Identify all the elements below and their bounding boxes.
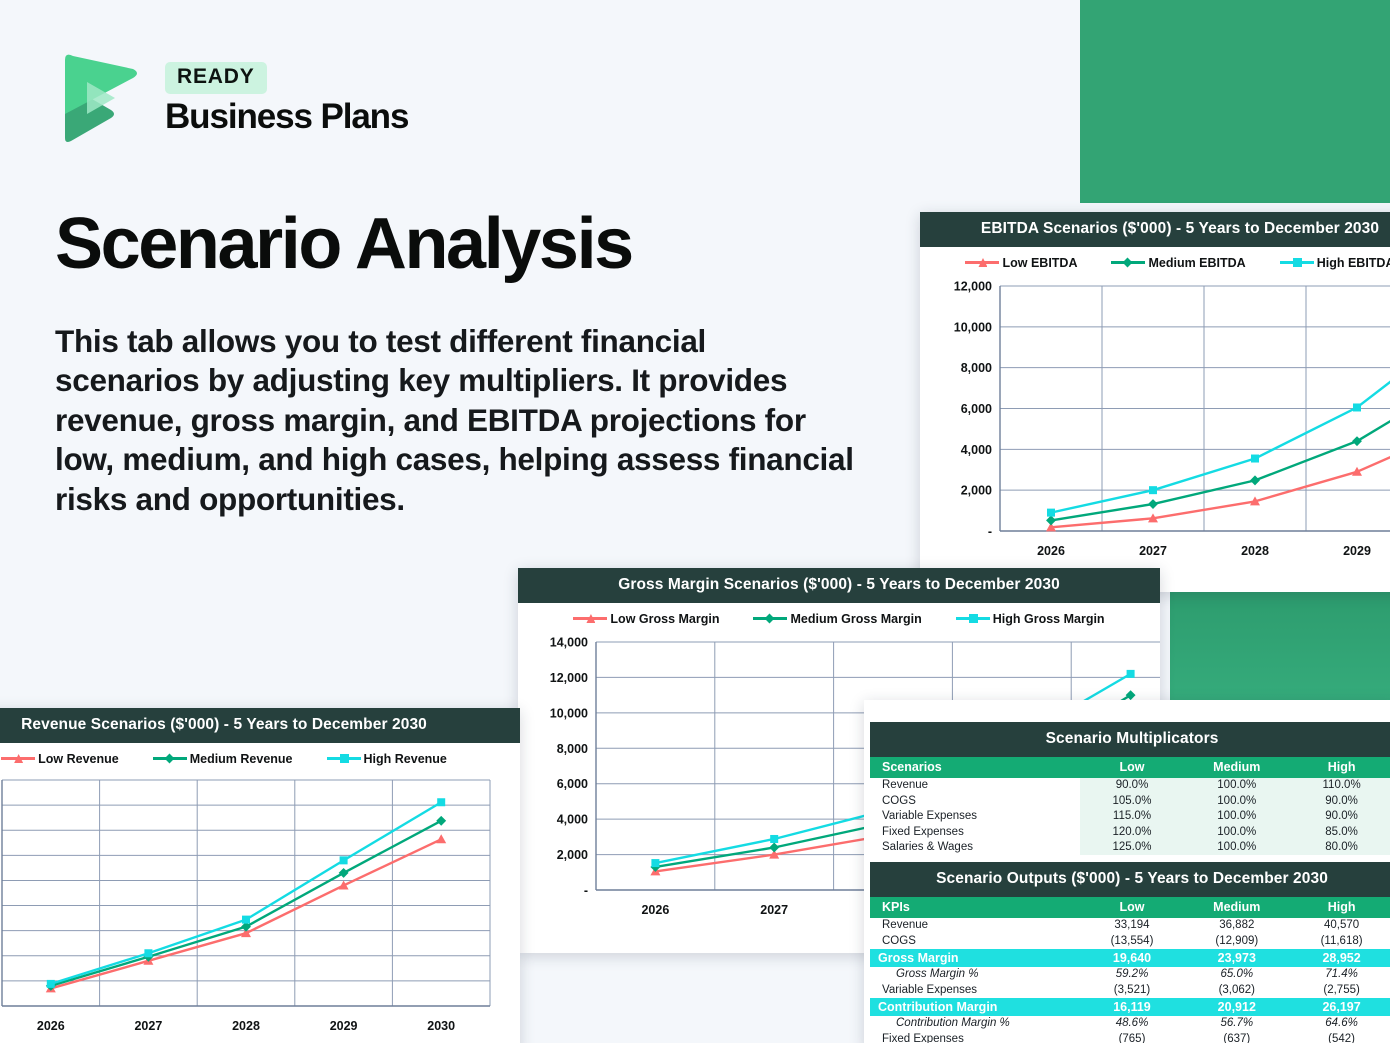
row-label: COGS <box>870 933 1080 949</box>
row-label: Contribution Margin % <box>870 1016 1080 1032</box>
table-row: Contribution Margin16,11920,91226,197 <box>870 998 1390 1016</box>
cell-low: (3,521) <box>1080 982 1185 998</box>
legend-marker-low-icon <box>573 617 607 620</box>
legend-marker-medium-icon <box>153 757 187 760</box>
table-row: Fixed Expenses120.0%100.0%85.0% <box>870 824 1390 840</box>
svg-text:12,000: 12,000 <box>550 670 588 684</box>
row-label: Fixed Expenses <box>870 1031 1080 1043</box>
col-header-scenarios: Scenarios <box>870 757 1080 778</box>
cell-high: (2,755) <box>1289 982 1390 998</box>
legend-marker-high-icon <box>956 617 990 620</box>
col-header-low: Low <box>1080 757 1185 778</box>
cell-high: 26,197 <box>1289 998 1390 1016</box>
cell-low: 115.0% <box>1080 809 1185 825</box>
svg-text:4,000: 4,000 <box>557 812 588 826</box>
cell-medium: 56.7% <box>1184 1016 1289 1032</box>
row-label: Gross Margin <box>870 949 1080 967</box>
table-row: Fixed Expenses(765)(637)(542) <box>870 1031 1390 1043</box>
legend-item-medium-ebitda[interactable]: Medium EBITDA <box>1111 256 1245 270</box>
row-label: Revenue <box>870 918 1080 934</box>
chart-legend-ebitda: Low EBITDA Medium EBITDA High EBITDA <box>920 247 1390 276</box>
cell-medium: 20,912 <box>1184 998 1289 1016</box>
chart-title-revenue: Revenue Scenarios ($'000) - 5 Years to D… <box>0 708 520 743</box>
cell-high: (11,618) <box>1289 933 1390 949</box>
cell-high: 28,952 <box>1289 949 1390 967</box>
legend-marker-high-icon <box>327 757 361 760</box>
cell-medium: (3,062) <box>1184 982 1289 998</box>
row-label: Fixed Expenses <box>870 824 1080 840</box>
table-row: COGS(13,554)(12,909)(11,618) <box>870 933 1390 949</box>
svg-text:6,000: 6,000 <box>557 777 588 791</box>
decorative-green-block-top <box>1080 0 1390 203</box>
legend-item-high-ebitda[interactable]: High EBITDA <box>1280 256 1390 270</box>
chart-plot-revenue: 20262027202820292030 <box>0 772 520 1043</box>
brand-lockup: READY Business Plans <box>55 52 408 144</box>
legend-label: Low Revenue <box>38 752 119 766</box>
brand-name: Business Plans <box>165 99 408 134</box>
cell-low: 33,194 <box>1080 918 1185 934</box>
table-row: Variable Expenses(3,521)(3,062)(2,755) <box>870 982 1390 998</box>
legend-label: High Gross Margin <box>993 612 1105 626</box>
legend-item-high-revenue[interactable]: High Revenue <box>327 752 447 766</box>
table-row: Revenue90.0%100.0%110.0% <box>870 778 1390 794</box>
chart-legend-revenue: Low Revenue Medium Revenue High Revenue <box>0 743 520 772</box>
cell-low: (13,554) <box>1080 933 1185 949</box>
row-label: Variable Expenses <box>870 809 1080 825</box>
outputs-table: KPIs Low Medium High Revenue33,19436,882… <box>870 897 1390 1043</box>
cell-high: 71.4% <box>1289 967 1390 983</box>
row-label: COGS <box>870 793 1080 809</box>
chart-plot-ebitda: -2,0004,0006,0008,00010,00012,0002026202… <box>920 276 1390 591</box>
legend-item-medium-revenue[interactable]: Medium Revenue <box>153 752 293 766</box>
table-row: Salaries & Wages125.0%100.0%80.0% <box>870 840 1390 856</box>
svg-text:2027: 2027 <box>760 903 788 917</box>
svg-text:2026: 2026 <box>1037 544 1065 558</box>
outputs-header-row: KPIs Low Medium High <box>870 897 1390 918</box>
legend-marker-low-icon <box>965 261 999 264</box>
svg-text:8,000: 8,000 <box>557 741 588 755</box>
page-description: This tab allows you to test different fi… <box>55 322 855 519</box>
cell-high: (542) <box>1289 1031 1390 1043</box>
ready-badge: READY <box>165 62 267 94</box>
legend-marker-high-icon <box>1280 261 1314 264</box>
cell-medium: 65.0% <box>1184 967 1289 983</box>
cell-high: 90.0% <box>1289 793 1390 809</box>
legend-label: Medium Gross Margin <box>790 612 921 626</box>
legend-label: Low EBITDA <box>1002 256 1077 270</box>
svg-text:8,000: 8,000 <box>961 361 992 375</box>
cell-medium: (637) <box>1184 1031 1289 1043</box>
svg-text:14,000: 14,000 <box>550 635 588 649</box>
legend-item-medium-gross-margin[interactable]: Medium Gross Margin <box>753 612 921 626</box>
cell-low: 59.2% <box>1080 967 1185 983</box>
cell-high: 85.0% <box>1289 824 1390 840</box>
svg-text:4,000: 4,000 <box>961 442 992 456</box>
cell-low: 125.0% <box>1080 840 1185 856</box>
svg-text:2028: 2028 <box>1241 544 1269 558</box>
svg-text:2,000: 2,000 <box>961 483 992 497</box>
page-root: READY Business Plans Scenario Analysis T… <box>0 0 1390 1043</box>
cell-medium: 100.0% <box>1184 840 1289 856</box>
svg-text:2027: 2027 <box>134 1019 162 1033</box>
cell-medium: 36,882 <box>1184 918 1289 934</box>
chart-title-ebitda: EBITDA Scenarios ($'000) - 5 Years to De… <box>920 212 1390 247</box>
svg-text:2,000: 2,000 <box>557 848 588 862</box>
svg-text:2029: 2029 <box>1343 544 1371 558</box>
svg-text:2026: 2026 <box>641 903 669 917</box>
legend-item-high-gross-margin[interactable]: High Gross Margin <box>956 612 1105 626</box>
legend-label: Medium Revenue <box>190 752 293 766</box>
legend-marker-medium-icon <box>1111 261 1145 264</box>
col-header-high: High <box>1289 757 1390 778</box>
cell-high: 90.0% <box>1289 809 1390 825</box>
table-row: Contribution Margin %48.6%56.7%64.6% <box>870 1016 1390 1032</box>
multiplicators-table: Scenarios Low Medium High Revenue90.0%10… <box>870 757 1390 856</box>
legend-item-low-ebitda[interactable]: Low EBITDA <box>965 256 1077 270</box>
row-label: Salaries & Wages <box>870 840 1080 856</box>
svg-text:6,000: 6,000 <box>961 402 992 416</box>
legend-item-low-gross-margin[interactable]: Low Gross Margin <box>573 612 719 626</box>
cell-low: 48.6% <box>1080 1016 1185 1032</box>
cell-medium: 100.0% <box>1184 824 1289 840</box>
cell-low: 19,640 <box>1080 949 1185 967</box>
chart-panel-ebitda: EBITDA Scenarios ($'000) - 5 Years to De… <box>920 212 1390 592</box>
legend-marker-medium-icon <box>753 617 787 620</box>
cell-high: 40,570 <box>1289 918 1390 934</box>
cell-low: 16,119 <box>1080 998 1185 1016</box>
table-row: Gross Margin19,64023,97328,952 <box>870 949 1390 967</box>
svg-text:2029: 2029 <box>330 1019 358 1033</box>
legend-label: Medium EBITDA <box>1148 256 1245 270</box>
multiplicators-header-row: Scenarios Low Medium High <box>870 757 1390 778</box>
cell-low: 120.0% <box>1080 824 1185 840</box>
col-header-high: High <box>1289 897 1390 918</box>
legend-label: High Revenue <box>364 752 447 766</box>
cell-low: 105.0% <box>1080 793 1185 809</box>
table-row: Variable Expenses115.0%100.0%90.0% <box>870 809 1390 825</box>
tables-panel: Scenario Multiplicators Scenarios Low Me… <box>864 700 1390 1043</box>
cell-low: 90.0% <box>1080 778 1185 794</box>
cell-medium: 23,973 <box>1184 949 1289 967</box>
legend-label: Low Gross Margin <box>610 612 719 626</box>
svg-text:-: - <box>988 524 992 538</box>
table-row: COGS105.0%100.0%90.0% <box>870 793 1390 809</box>
cell-high: 110.0% <box>1289 778 1390 794</box>
cell-medium: 100.0% <box>1184 778 1289 794</box>
cell-high: 64.6% <box>1289 1016 1390 1032</box>
table-row: Revenue33,19436,88240,570 <box>870 918 1390 934</box>
cell-medium: 100.0% <box>1184 809 1289 825</box>
svg-text:12,000: 12,000 <box>954 279 992 293</box>
row-label: Revenue <box>870 778 1080 794</box>
col-header-kpis: KPIs <box>870 897 1080 918</box>
cell-high: 80.0% <box>1289 840 1390 856</box>
cell-medium: (12,909) <box>1184 933 1289 949</box>
outputs-title: Scenario Outputs ($'000) - 5 Years to De… <box>870 862 1390 897</box>
table-row: Gross Margin %59.2%65.0%71.4% <box>870 967 1390 983</box>
legend-item-low-revenue[interactable]: Low Revenue <box>1 752 119 766</box>
multiplicators-title: Scenario Multiplicators <box>870 722 1390 757</box>
svg-text:10,000: 10,000 <box>550 706 588 720</box>
col-header-low: Low <box>1080 897 1185 918</box>
row-label: Gross Margin % <box>870 967 1080 983</box>
page-title: Scenario Analysis <box>55 208 632 280</box>
row-label: Contribution Margin <box>870 998 1080 1016</box>
legend-label: High EBITDA <box>1317 256 1390 270</box>
chart-panel-revenue: Revenue Scenarios ($'000) - 5 Years to D… <box>0 708 520 1043</box>
svg-text:2028: 2028 <box>232 1019 260 1033</box>
svg-text:2026: 2026 <box>37 1019 65 1033</box>
chart-title-gross-margin: Gross Margin Scenarios ($'000) - 5 Years… <box>518 568 1160 603</box>
row-label: Variable Expenses <box>870 982 1080 998</box>
legend-marker-low-icon <box>1 757 35 760</box>
cell-medium: 100.0% <box>1184 793 1289 809</box>
decorative-green-block-middle <box>1170 590 1390 700</box>
svg-text:-: - <box>584 883 588 897</box>
play-triangle-logo-icon <box>55 52 143 144</box>
svg-text:10,000: 10,000 <box>954 320 992 334</box>
chart-legend-gross-margin: Low Gross Margin Medium Gross Margin Hig… <box>518 603 1160 632</box>
cell-low: (765) <box>1080 1031 1185 1043</box>
col-header-medium: Medium <box>1184 897 1289 918</box>
svg-text:2027: 2027 <box>1139 544 1167 558</box>
svg-text:2030: 2030 <box>427 1019 455 1033</box>
col-header-medium: Medium <box>1184 757 1289 778</box>
